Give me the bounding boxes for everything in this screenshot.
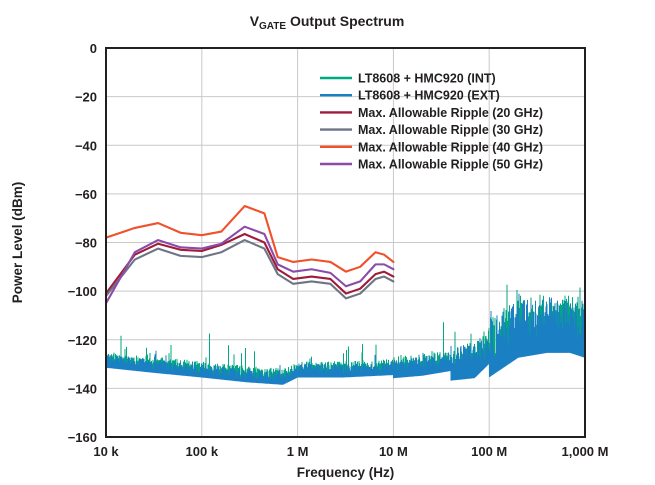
legend-label: Max. Allowable Ripple (30 GHz)	[358, 123, 543, 137]
y-tick-label: −140	[68, 381, 97, 396]
y-tick-label: −160	[68, 430, 97, 445]
legend-label: LT8608 + HMC920 (INT)	[358, 72, 496, 86]
legend-label: Max. Allowable Ripple (20 GHz)	[358, 106, 543, 120]
x-axis-title: Frequency (Hz)	[297, 465, 395, 480]
y-tick-label: −60	[75, 187, 97, 202]
y-tick-label: −20	[75, 90, 97, 105]
y-tick-label: −100	[68, 284, 97, 299]
legend-label: LT8608 + HMC920 (EXT)	[358, 89, 500, 103]
x-tick-label: 10 k	[93, 444, 119, 459]
chart-container: VGATE Output Spectrum 10 k100 k1 M10 M10…	[0, 0, 655, 485]
y-tick-label: −80	[75, 236, 97, 251]
x-tick-label: 1,000 M	[562, 444, 609, 459]
y-tick-label: −120	[68, 333, 97, 348]
legend-label: Max. Allowable Ripple (50 GHz)	[358, 158, 543, 172]
legend-label: Max. Allowable Ripple (40 GHz)	[358, 140, 543, 154]
y-tick-label: −40	[75, 138, 97, 153]
y-tick-label: 0	[90, 41, 97, 56]
x-tick-label: 100 k	[186, 444, 219, 459]
spectrum-chart: VGATE Output Spectrum 10 k100 k1 M10 M10…	[0, 0, 655, 485]
y-axis-title: Power Level (dBm)	[10, 182, 25, 304]
x-tick-label: 1 M	[287, 444, 309, 459]
x-tick-label: 10 M	[379, 444, 408, 459]
x-tick-label: 100 M	[471, 444, 507, 459]
